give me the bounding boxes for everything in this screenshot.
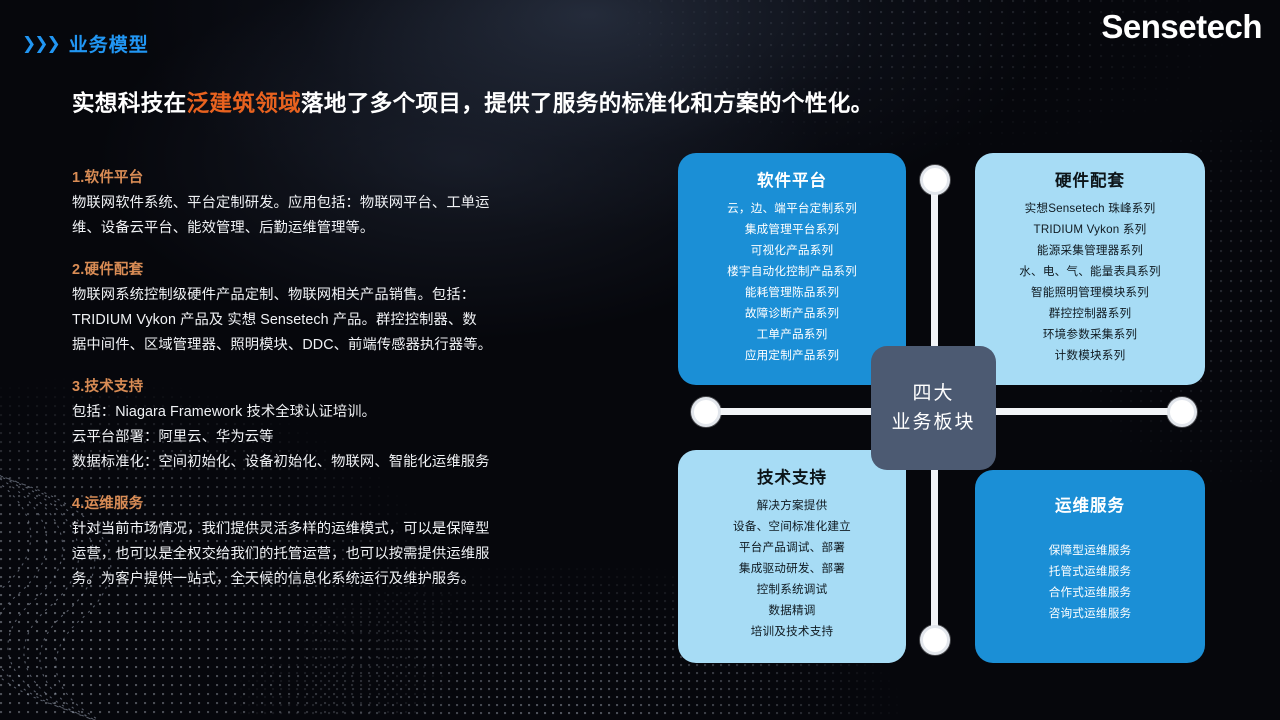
card-item: 平台产品调试、部署	[678, 537, 906, 558]
headline-highlight: 泛建筑领域	[187, 91, 302, 116]
block-line: 维、设备云平台、能效管理、后勤运维管理等。	[72, 216, 572, 241]
card-technical-support[interactable]: 技术支持 解决方案提供 设备、空间标准化建立 平台产品调试、部署 集成驱动研发、…	[678, 450, 906, 663]
block-line: 物联网系统控制级硬件产品定制、物联网相关产品销售。包括：	[72, 283, 572, 308]
block-line: 运营，也可以是全权交给我们的托管运营，也可以按需提供运维服	[72, 542, 572, 567]
section-tag-label: 业务模型	[69, 30, 149, 57]
block-title: 4.运维服务	[72, 492, 572, 513]
connector-node-top	[920, 165, 950, 195]
connector-node-right	[1167, 397, 1197, 427]
left-content-column: 1.软件平台 物联网软件系统、平台定制研发。应用包括：物联网平台、工单运 维、设…	[72, 166, 572, 609]
hub-line-1: 四大	[912, 379, 954, 408]
headline-part-2: 落地了多个项目，提供了服务的标准化和方案的个性化。	[301, 91, 874, 116]
card-item: 数据精调	[678, 600, 906, 621]
card-item: 托管式运维服务	[975, 561, 1205, 582]
block-line: TRIDIUM Vykon 产品及 实想 Sensetech 产品。群控控制器、…	[72, 308, 572, 333]
card-item: 环境参数采集系列	[975, 324, 1205, 345]
card-item: 控制系统调试	[678, 579, 906, 600]
card-item: 故障诊断产品系列	[678, 303, 906, 324]
card-title: 技术支持	[678, 464, 906, 488]
card-title: 硬件配套	[975, 167, 1205, 191]
business-segments-diagram: 软件平台 云，边、端平台定制系列 集成管理平台系列 可视化产品系列 楼宇自动化控…	[660, 140, 1220, 680]
content-block-technical: 3.技术支持 包括：Niagara Framework 技术全球认证培训。 云平…	[72, 375, 572, 475]
card-item: 合作式运维服务	[975, 582, 1205, 603]
company-logo: Sensetech	[1101, 8, 1262, 46]
content-block-hardware: 2.硬件配套 物联网系统控制级硬件产品定制、物联网相关产品销售。包括： TRID…	[72, 258, 572, 358]
section-tag: ❯❯❯ 业务模型	[22, 30, 149, 57]
block-line: 云平台部署：阿里云、华为云等	[72, 425, 572, 450]
block-line: 数据标准化：空间初始化、设备初始化、物联网、智能化运维服务	[72, 450, 572, 475]
card-item: 培训及技术支持	[678, 621, 906, 642]
block-line: 务。为客户提供一站式，全天候的信息化系统运行及维护服务。	[72, 567, 572, 592]
card-item: TRIDIUM Vykon 系列	[975, 219, 1205, 240]
connector-node-left	[691, 397, 721, 427]
card-item: 群控控制器系列	[975, 303, 1205, 324]
card-item: 计数模块系列	[975, 345, 1205, 366]
card-item: 解决方案提供	[678, 495, 906, 516]
block-title: 1.软件平台	[72, 166, 572, 187]
card-software-platform[interactable]: 软件平台 云，边、端平台定制系列 集成管理平台系列 可视化产品系列 楼宇自动化控…	[678, 153, 906, 385]
card-item: 水、电、气、能量表具系列	[975, 261, 1205, 282]
card-item: 设备、空间标准化建立	[678, 516, 906, 537]
triple-chevron-right-icon: ❯❯❯	[22, 35, 59, 52]
connector-node-bottom	[920, 625, 950, 655]
hub-line-2: 业务板块	[891, 408, 975, 437]
card-item: 保障型运维服务	[975, 540, 1205, 561]
block-title: 3.技术支持	[72, 375, 572, 396]
slide-canvas: ❯❯❯ 业务模型 Sensetech 实想科技在泛建筑领域落地了多个项目，提供了…	[0, 0, 1280, 720]
block-line: 物联网软件系统、平台定制研发。应用包括：物联网平台、工单运	[72, 191, 572, 216]
card-item: 可视化产品系列	[678, 240, 906, 261]
card-item: 工单产品系列	[678, 324, 906, 345]
card-item: 能耗管理陈品系列	[678, 282, 906, 303]
card-item: 集成管理平台系列	[678, 219, 906, 240]
diagram-hub[interactable]: 四大 业务板块	[871, 346, 996, 470]
card-title: 运维服务	[975, 492, 1205, 516]
block-line: 据中间件、区域管理器、照明模块、DDC、前端传感器执行器等。	[72, 333, 572, 358]
block-line: 包括：Niagara Framework 技术全球认证培训。	[72, 400, 572, 425]
card-ops-service[interactable]: 运维服务 保障型运维服务 托管式运维服务 合作式运维服务 咨询式运维服务	[975, 470, 1205, 663]
card-item: 云，边、端平台定制系列	[678, 198, 906, 219]
card-item: 能源采集管理器系列	[975, 240, 1205, 261]
card-item: 实想Sensetech 珠峰系列	[975, 198, 1205, 219]
card-title: 软件平台	[678, 167, 906, 191]
block-title: 2.硬件配套	[72, 258, 572, 279]
block-line: 针对当前市场情况，我们提供灵活多样的运维模式，可以是保障型	[72, 517, 572, 542]
card-hardware-kit[interactable]: 硬件配套 实想Sensetech 珠峰系列 TRIDIUM Vykon 系列 能…	[975, 153, 1205, 385]
card-item: 楼宇自动化控制产品系列	[678, 261, 906, 282]
content-block-software: 1.软件平台 物联网软件系统、平台定制研发。应用包括：物联网平台、工单运 维、设…	[72, 166, 572, 241]
headline-part-1: 实想科技在	[72, 91, 187, 116]
content-block-ops: 4.运维服务 针对当前市场情况，我们提供灵活多样的运维模式，可以是保障型 运营，…	[72, 492, 572, 592]
card-item: 智能照明管理模块系列	[975, 282, 1205, 303]
card-item: 咨询式运维服务	[975, 603, 1205, 624]
card-item: 集成驱动研发、部署	[678, 558, 906, 579]
page-title: 实想科技在泛建筑领域落地了多个项目，提供了服务的标准化和方案的个性化。	[72, 86, 874, 118]
